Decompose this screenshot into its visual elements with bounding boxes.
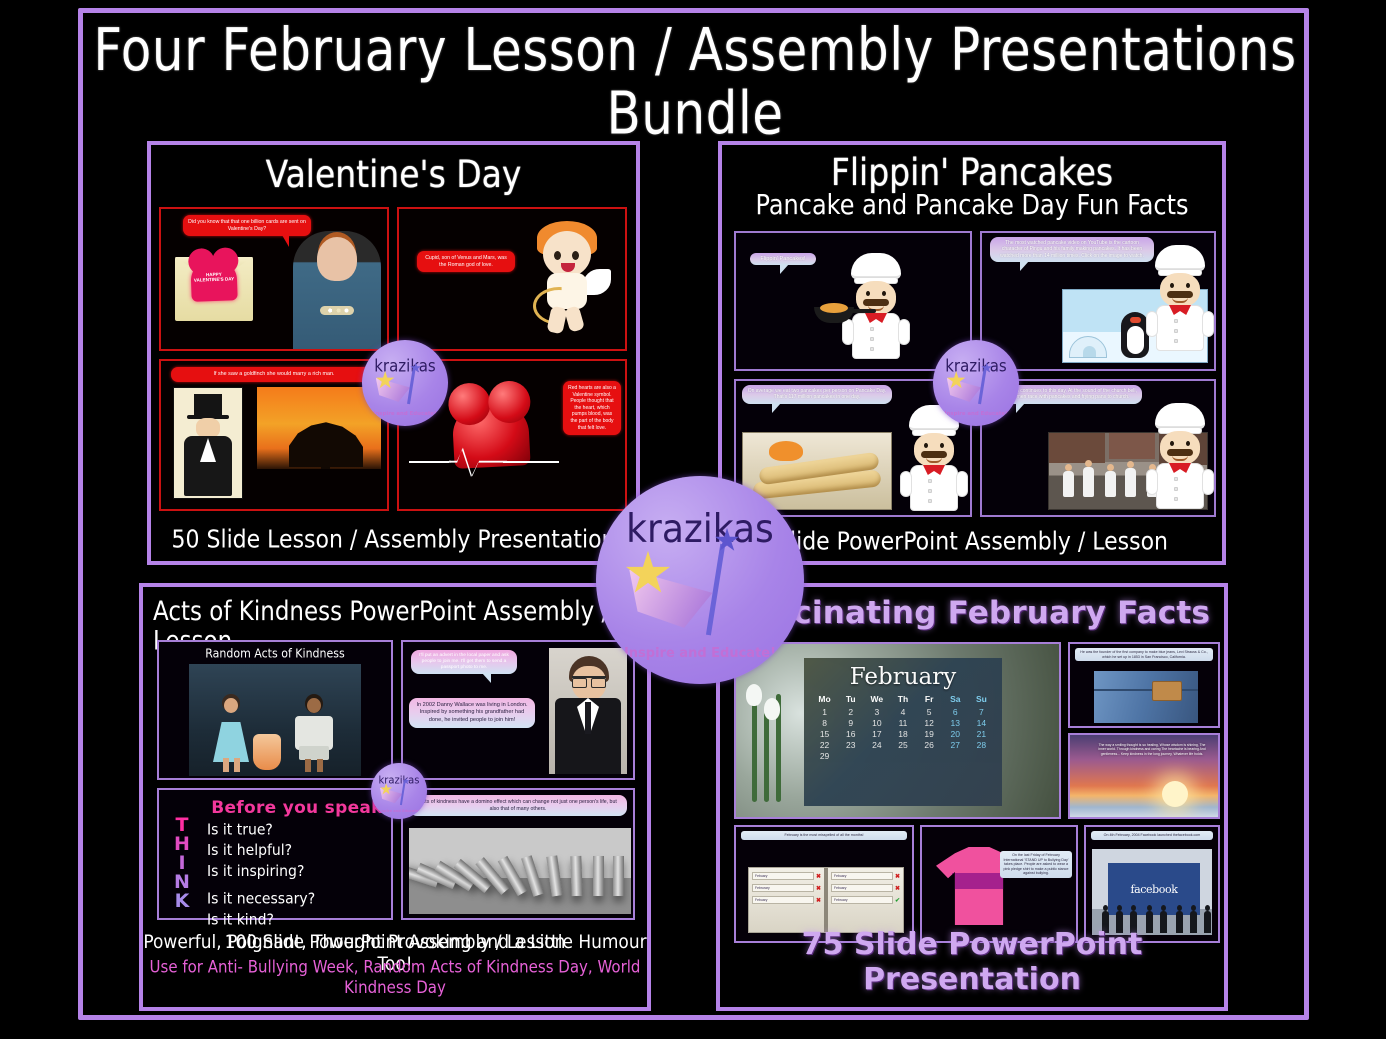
stand-up-to-bullying-slide[interactable]: On the last Friday of February Internati…	[920, 825, 1078, 943]
valentines-title: Valentine's Day	[154, 154, 633, 195]
victorian-gentleman-image	[173, 387, 243, 499]
pancakes-fact-3: On average we eat two pancakes per perso…	[742, 385, 892, 404]
february-fact-4: On the last Friday of February Internati…	[1000, 851, 1072, 878]
valentines-fact-2: Cupid, son of Venus and Mars, was the Ro…	[417, 251, 515, 272]
valentines-fact-4: Red hearts are also a Valentine symbol. …	[563, 381, 621, 435]
calendar-day: 20	[943, 729, 968, 739]
calendar-weekday-header: Mo	[812, 694, 837, 706]
ribbon-shape	[380, 788, 402, 804]
calendar-day: 27	[943, 740, 968, 750]
february-facts-caption: 75 Slide PowerPoint Presentation	[720, 927, 1224, 997]
notebook-left-page: Febuary✖Februrary✖Febuary✖	[749, 868, 824, 932]
snowdrop-flower-icon	[742, 654, 790, 804]
think-letter: K	[169, 892, 195, 911]
calendar-weekday-header: Fr	[917, 694, 942, 706]
valentines-caption: 50 Slide Lesson / Assembly Presentation	[151, 526, 636, 554]
calendar-month-label: February	[804, 658, 1002, 692]
february-fact-1: He was the founder of the first company …	[1075, 648, 1213, 661]
heart-icon: HAPPY VALENTINE'S DAY	[190, 258, 237, 302]
cross-icon: ✖	[895, 885, 900, 892]
pancakes-fact-1: Flippin' Pancakes!	[750, 253, 816, 265]
spelling-word: Febuary	[752, 872, 814, 880]
spelling-word: Febuary	[752, 896, 814, 904]
spelling-word: Februrary	[752, 884, 814, 892]
think-question: Is it helpful?	[207, 841, 397, 861]
kindness-image-caption: Random Acts of Kindness	[159, 646, 391, 661]
calendar-day: 3	[864, 707, 889, 717]
sunset-quote-slide[interactable]: The way a smiling thought is so healing,…	[1068, 733, 1220, 819]
calendar-day: 26	[917, 740, 942, 750]
think-question: Is it true?	[207, 820, 397, 840]
dominoes-image	[409, 828, 631, 914]
think-questions: Is it true? Is it helpful? Is it inspiri…	[207, 820, 397, 931]
kindness-fact-2: In 2002 Danny Wallace was living in Lond…	[409, 698, 535, 728]
pancakes-slide-1[interactable]: Flippin' Pancakes!	[734, 231, 972, 371]
kindness-slide-4[interactable]: Acts of kindness have a domino effect wh…	[401, 788, 635, 920]
brand-tagline: Inspire and Educate!	[933, 411, 1019, 417]
calendar-day: 14	[969, 718, 994, 728]
calendar-weekday-header: Su	[969, 694, 994, 706]
brand-name: krazikas	[362, 356, 448, 376]
valentine-card-envelope: HAPPY VALENTINE'S DAY	[175, 257, 253, 321]
kindness-caption-3: Use for Anti- Bullying Week, Random Acts…	[143, 957, 647, 997]
brand-watermark: krazikas Inspire and Educate!	[362, 340, 448, 426]
valentines-slide-1[interactable]: Did you know that that one billion cards…	[159, 207, 389, 351]
calendar-day: 12	[917, 718, 942, 728]
calendar-day: 9	[838, 718, 863, 728]
cross-icon: ✖	[895, 873, 900, 880]
page-title-line1: Four February Lesson / Assembly Presenta…	[93, 16, 1296, 84]
calendar-weekday-header: Tu	[838, 694, 863, 706]
calendar-day: 18	[890, 729, 915, 739]
page-title: Four February Lesson / Assembly Presenta…	[90, 18, 1300, 145]
blue-jeans-photo	[1094, 671, 1198, 723]
cupid-icon	[525, 217, 617, 335]
calendar-day: 16	[838, 729, 863, 739]
brand-tagline: Inspire and Educate!	[371, 809, 427, 813]
kindness-slide-3[interactable]: Before you speak T H I N K Is it true? I…	[157, 788, 393, 920]
levi-jeans-slide[interactable]: He was the founder of the first company …	[1068, 642, 1220, 728]
brand-watermark: krazikas Inspire and Educate!	[933, 340, 1019, 426]
chef-icon	[1148, 403, 1212, 511]
calendar-day: 25	[890, 740, 915, 750]
calendar-weekday-header: We	[864, 694, 889, 706]
facebook-billboard-image: facebook	[1092, 849, 1212, 935]
woman-photo	[293, 231, 381, 349]
notebook-right-page: Febuary✖Febuary✖February✔	[828, 868, 903, 932]
spelling-slide[interactable]: February is the most misspelled of all t…	[734, 825, 914, 943]
think-question: Is it inspiring?	[207, 862, 397, 882]
cross-icon: ✖	[816, 897, 821, 904]
calendar-grid: MoTuWeThFrSaSu12345678910111213141516171…	[804, 692, 1002, 761]
magic-wand-icon	[706, 543, 725, 634]
spelling-row: Febuary✖	[831, 872, 900, 880]
february-fact-3: February is the most misspelled of all t…	[741, 831, 907, 840]
brand-watermark: krazikas Inspire and Educate!	[371, 763, 427, 819]
february-fact-2: The way a smiling thought is so healing,…	[1098, 743, 1206, 756]
spelling-row: Febuary✖	[831, 884, 900, 892]
calendar-day: 10	[864, 718, 889, 728]
calendar-day: 19	[917, 729, 942, 739]
brand-tagline: Inspire and Educate!	[596, 646, 804, 661]
brand-name: krazikas	[933, 356, 1019, 376]
facebook-slide[interactable]: On 4th February, 2004 Facebook launched …	[1084, 825, 1220, 943]
calendar-day: 6	[943, 707, 968, 717]
ribbon-shape	[376, 378, 410, 402]
kindness-fact-3: Acts of kindness have a domino effect wh…	[409, 795, 627, 816]
children-sharing-photo	[189, 664, 361, 776]
check-icon: ✔	[895, 897, 900, 904]
calendar-day: 4	[890, 707, 915, 717]
february-calendar-slide[interactable]: February MoTuWeThFrSaSu12345678910111213…	[734, 642, 1061, 819]
calendar-day: 1	[812, 707, 837, 717]
calendar-weekday-header: Sa	[943, 694, 968, 706]
brand-tagline: Inspire and Educate!	[362, 411, 448, 417]
spelling-notebook-image: Febuary✖Februrary✖Febuary✖ Febuary✖Febua…	[748, 867, 904, 933]
valentines-fact-3: If she saw a goldfinch she would marry a…	[171, 367, 377, 382]
chef-icon	[1148, 245, 1212, 353]
danny-wallace-photo	[549, 648, 627, 774]
spelling-word: February	[831, 896, 893, 904]
calendar-day: 24	[864, 740, 889, 750]
valentine-card-text: HAPPY VALENTINE'S DAY	[191, 271, 237, 283]
calendar-day: 23	[838, 740, 863, 750]
calendar-day: 7	[969, 707, 994, 717]
ribbon-shape	[947, 378, 981, 402]
calendar-day: 28	[969, 740, 994, 750]
think-acronym: T H I N K	[169, 816, 195, 911]
calendar-day: 11	[890, 718, 915, 728]
calendar-day: 8	[812, 718, 837, 728]
valentines-fact-1: Did you know that that one billion cards…	[183, 215, 311, 236]
calendar-day: 17	[864, 729, 889, 739]
calendar-day: 21	[969, 729, 994, 739]
valentines-slide-2[interactable]: Cupid, son of Venus and Mars, was the Ro…	[397, 207, 627, 351]
spelling-word: Febuary	[831, 872, 893, 880]
pancakes-slide-2[interactable]: The most watched pancake video on YouTub…	[980, 231, 1216, 371]
february-calendar: February MoTuWeThFrSaSu12345678910111213…	[804, 658, 1002, 806]
brand-name: krazikas	[596, 507, 804, 552]
calendar-day: 15	[812, 729, 837, 739]
valentines-slide-3[interactable]: If she saw a goldfinch she would marry a…	[159, 359, 389, 511]
calendar-day: 5	[917, 707, 942, 717]
calendar-weekday-header: Th	[890, 694, 915, 706]
brand-name: krazikas	[371, 775, 427, 787]
sunset-photo: The way a smiling thought is so healing,…	[1070, 735, 1218, 817]
think-question: Is it necessary?	[207, 889, 397, 909]
spelling-row: February✔	[831, 896, 900, 904]
kindness-slide-1[interactable]: Random Acts of Kindness	[157, 640, 393, 780]
brand-logo-badge[interactable]: krazikas Inspire and Educate!	[596, 476, 804, 684]
sunset-tree-image	[257, 387, 381, 469]
pancakes-fact-2: The most watched pancake video on YouTub…	[990, 237, 1154, 262]
calendar-day: 2	[838, 707, 863, 717]
spelling-row: Febuary✖	[752, 872, 821, 880]
cross-icon: ✖	[816, 873, 821, 880]
think-heading: Before you speak	[207, 798, 387, 818]
calendar-day: 29	[812, 751, 837, 761]
spelling-row: Febuary✖	[752, 896, 821, 904]
calendar-day: 13	[943, 718, 968, 728]
cross-icon: ✖	[816, 885, 821, 892]
pancakes-title: Flippin' Pancakes	[725, 152, 1219, 193]
pancakes-subtitle: Pancake and Pancake Day Fun Facts	[725, 190, 1219, 220]
kindness-fact-1: I'll put an advert in the local paper an…	[411, 650, 517, 674]
february-fact-5: On 4th February, 2004 Facebook launched …	[1091, 831, 1213, 840]
poster-canvas: Four February Lesson / Assembly Presenta…	[0, 0, 1386, 1039]
spelling-word: Febuary	[831, 884, 893, 892]
page-title-line2: Bundle	[90, 82, 1300, 146]
think-question: Is it kind?	[207, 910, 397, 930]
calendar-day: 22	[812, 740, 837, 750]
spelling-row: Februrary✖	[752, 884, 821, 892]
